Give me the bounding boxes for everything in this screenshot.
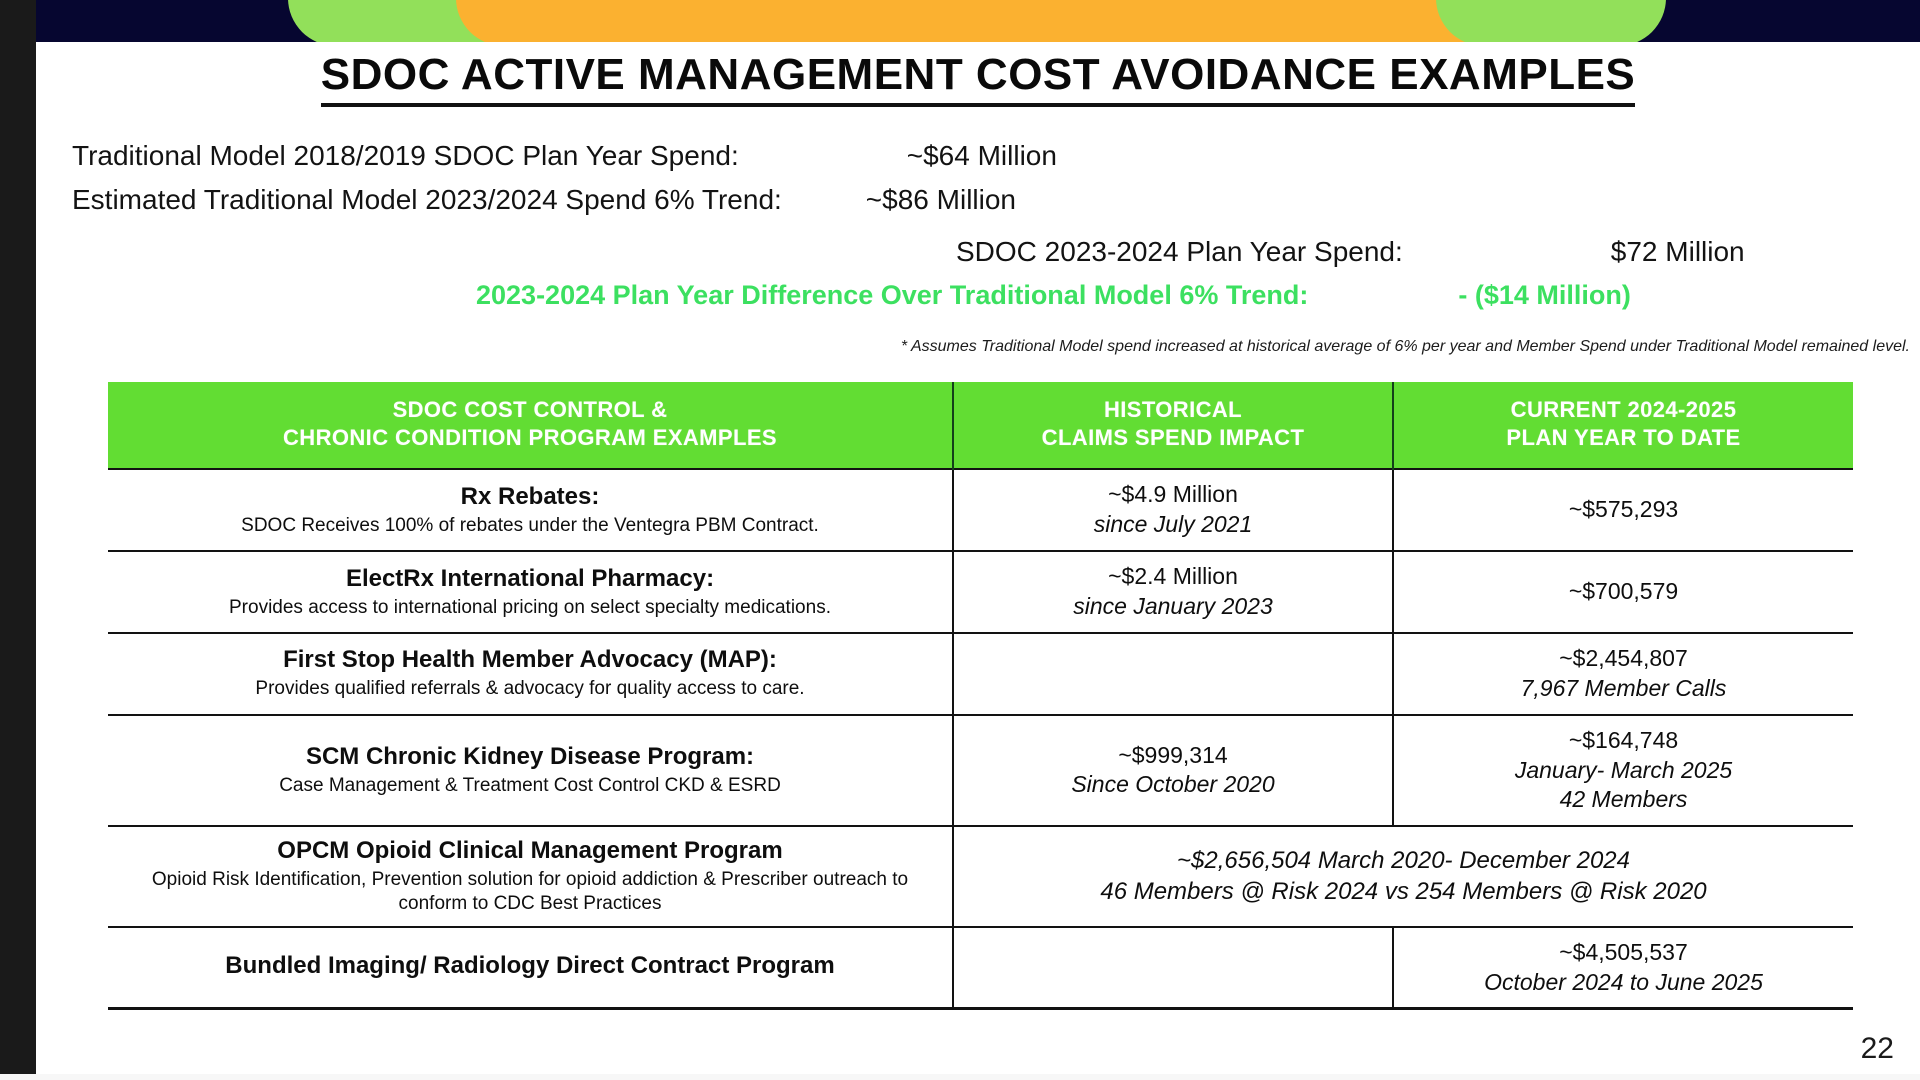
historical-amount: ~$4.9 Million xyxy=(962,480,1384,510)
slide-bottom-edge xyxy=(0,1074,1920,1080)
program-description: Provides qualified referrals & advocacy … xyxy=(116,677,944,701)
header-line-1: HISTORICAL xyxy=(960,396,1386,424)
header-line-2: PLAN YEAR TO DATE xyxy=(1400,424,1847,452)
summary-label-highlight: 2023-2024 Plan Year Difference Over Trad… xyxy=(476,280,1308,311)
program-description: Case Management & Treatment Cost Control… xyxy=(116,774,944,798)
slide-left-edge xyxy=(0,0,36,1080)
cell-program: Bundled Imaging/ Radiology Direct Contra… xyxy=(108,927,953,1009)
summary-label: Traditional Model 2018/2019 SDOC Plan Ye… xyxy=(72,140,739,172)
historical-period: Since October 2020 xyxy=(962,770,1384,800)
cell-current: ~$575,293 xyxy=(1393,469,1853,551)
cell-current: ~$700,579 xyxy=(1393,551,1853,633)
current-amount: ~$700,579 xyxy=(1402,577,1845,607)
cell-historical: ~$2.4 Million since January 2023 xyxy=(953,551,1393,633)
decorative-header-banner xyxy=(36,0,1920,42)
cell-current: ~$164,748 January- March 2025 42 Members xyxy=(1393,715,1853,827)
current-amount: ~$575,293 xyxy=(1402,495,1845,525)
cell-current: ~$2,454,807 7,967 Member Calls xyxy=(1393,633,1853,715)
program-title: SCM Chronic Kidney Disease Program: xyxy=(116,743,944,772)
current-detail: October 2024 to June 2025 xyxy=(1402,968,1845,998)
current-amount: ~$4,505,537 xyxy=(1402,938,1845,968)
cell-current: ~$4,505,537 October 2024 to June 2025 xyxy=(1393,927,1853,1009)
banner-green-blob-right xyxy=(1436,0,1666,42)
footnote-text: * Assumes Traditional Model spend increa… xyxy=(36,338,1920,356)
program-title: Rx Rebates: xyxy=(116,483,944,512)
summary-value: $72 Million xyxy=(1611,236,1745,268)
title-container: SDOC ACTIVE MANAGEMENT COST AVOIDANCE EX… xyxy=(36,50,1920,107)
cell-historical xyxy=(953,927,1393,1009)
table-row: Bundled Imaging/ Radiology Direct Contra… xyxy=(108,927,1853,1009)
cell-historical: ~$999,314 Since October 2020 xyxy=(953,715,1393,827)
header-line-1: CURRENT 2024-2025 xyxy=(1400,396,1847,424)
column-header-current: CURRENT 2024-2025 PLAN YEAR TO DATE xyxy=(1393,382,1853,469)
header-line-1: SDOC COST CONTROL & xyxy=(114,396,946,424)
summary-row-sdoc-plan-year: SDOC 2023-2024 Plan Year Spend: $72 Mill… xyxy=(36,236,1920,280)
page-number: 22 xyxy=(1861,1032,1894,1066)
page-title: SDOC ACTIVE MANAGEMENT COST AVOIDANCE EX… xyxy=(321,50,1636,107)
cell-program: OPCM Opioid Clinical Management Program … xyxy=(108,826,953,926)
table-row: SCM Chronic Kidney Disease Program: Case… xyxy=(108,715,1853,827)
cell-historical xyxy=(953,633,1393,715)
table-row: OPCM Opioid Clinical Management Program … xyxy=(108,826,1853,926)
table-header: SDOC COST CONTROL & CHRONIC CONDITION PR… xyxy=(108,382,1853,469)
cell-program: ElectRx International Pharmacy: Provides… xyxy=(108,551,953,633)
program-title: Bundled Imaging/ Radiology Direct Contra… xyxy=(116,952,944,981)
historical-amount: ~$999,314 xyxy=(962,741,1384,771)
summary-label: SDOC 2023-2024 Plan Year Spend: xyxy=(956,236,1403,268)
current-detail: January- March 2025 xyxy=(1402,756,1845,786)
header-line-2: CLAIMS SPEND IMPACT xyxy=(960,424,1386,452)
historical-period: since July 2021 xyxy=(962,510,1384,540)
historical-amount: ~$2.4 Million xyxy=(962,562,1384,592)
program-title: ElectRx International Pharmacy: xyxy=(116,565,944,594)
program-description: Opioid Risk Identification, Prevention s… xyxy=(116,868,944,916)
header-line-2: CHRONIC CONDITION PROGRAM EXAMPLES xyxy=(114,424,946,452)
cell-program: First Stop Health Member Advocacy (MAP):… xyxy=(108,633,953,715)
table-body: Rx Rebates: SDOC Receives 100% of rebate… xyxy=(108,469,1853,1009)
current-amount: ~$2,454,807 xyxy=(1402,644,1845,674)
combined-amount: ~$2,656,504 March 2020- December 2024 xyxy=(962,845,1845,876)
summary-row-traditional-2018: Traditional Model 2018/2019 SDOC Plan Ye… xyxy=(36,140,1920,184)
current-amount: ~$164,748 xyxy=(1402,726,1845,756)
table-header-row: SDOC COST CONTROL & CHRONIC CONDITION PR… xyxy=(108,382,1853,469)
column-header-programs: SDOC COST CONTROL & CHRONIC CONDITION PR… xyxy=(108,382,953,469)
table-row: ElectRx International Pharmacy: Provides… xyxy=(108,551,1853,633)
historical-period: since January 2023 xyxy=(962,592,1384,622)
cost-avoidance-table: SDOC COST CONTROL & CHRONIC CONDITION PR… xyxy=(108,382,1853,1010)
column-header-historical: HISTORICAL CLAIMS SPEND IMPACT xyxy=(953,382,1393,469)
summary-value: ~$64 Million xyxy=(907,140,1057,172)
table-row: Rx Rebates: SDOC Receives 100% of rebate… xyxy=(108,469,1853,551)
current-detail-secondary: 42 Members xyxy=(1402,785,1845,815)
banner-orange-blob xyxy=(456,0,1516,42)
program-title: OPCM Opioid Clinical Management Program xyxy=(116,837,944,866)
program-title: First Stop Health Member Advocacy (MAP): xyxy=(116,646,944,675)
cell-program: SCM Chronic Kidney Disease Program: Case… xyxy=(108,715,953,827)
current-detail: 7,967 Member Calls xyxy=(1402,674,1845,704)
summary-row-estimated-2023: Estimated Traditional Model 2023/2024 Sp… xyxy=(36,184,1920,228)
summary-value-highlight: - ($14 Million) xyxy=(1458,280,1631,311)
summary-value: ~$86 Million xyxy=(866,184,1016,216)
summary-row-difference-highlight: 2023-2024 Plan Year Difference Over Trad… xyxy=(36,280,1920,324)
cell-program: Rx Rebates: SDOC Receives 100% of rebate… xyxy=(108,469,953,551)
table-row: First Stop Health Member Advocacy (MAP):… xyxy=(108,633,1853,715)
cell-historical: ~$4.9 Million since July 2021 xyxy=(953,469,1393,551)
summary-block: Traditional Model 2018/2019 SDOC Plan Ye… xyxy=(36,140,1920,324)
program-description: SDOC Receives 100% of rebates under the … xyxy=(116,514,944,538)
summary-label: Estimated Traditional Model 2023/2024 Sp… xyxy=(72,184,782,216)
cell-combined-impact: ~$2,656,504 March 2020- December 2024 46… xyxy=(953,826,1853,926)
program-description: Provides access to international pricing… xyxy=(116,596,944,620)
combined-detail: 46 Members @ Risk 2024 vs 254 Members @ … xyxy=(962,876,1845,907)
